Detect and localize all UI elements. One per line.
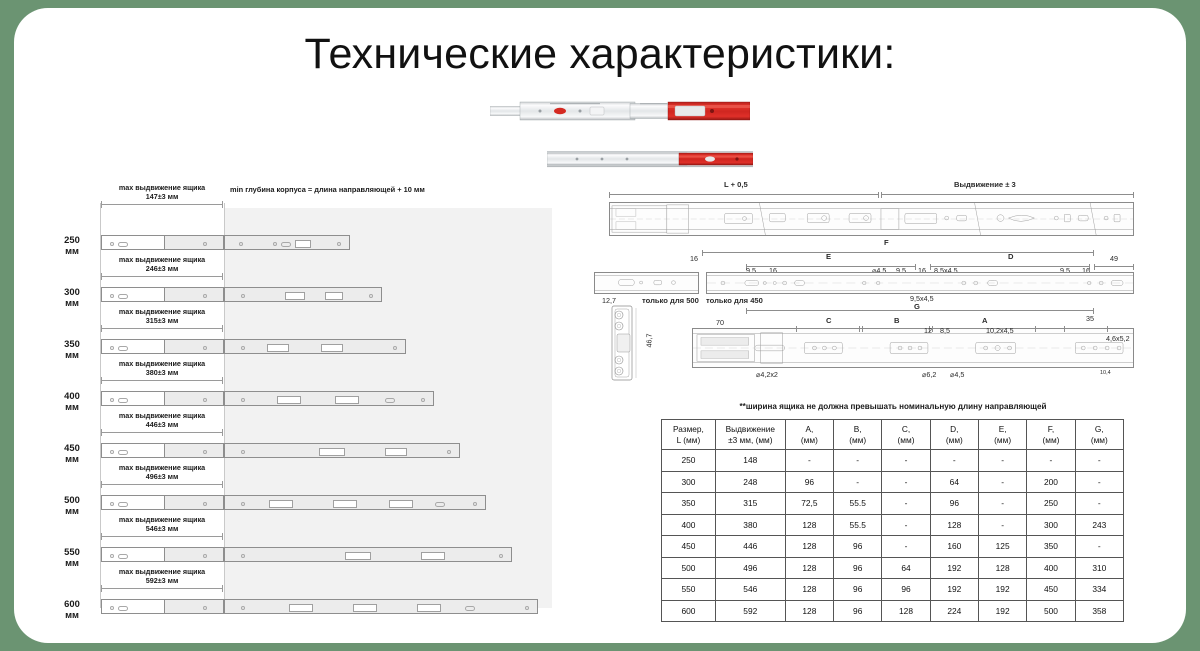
table-cell: - [834,450,882,472]
extension-caption-600: max выдвижение ящика592±3 мм [100,567,224,586]
rail-row-600-inner [164,599,224,614]
table-cell: 350 [662,493,716,515]
table-cell: 148 [715,450,785,472]
table-cell: 125 [978,536,1026,558]
size-label-300: 300мм [52,287,92,309]
table-row: 30024896--64-200- [662,471,1124,493]
table-cell: 224 [930,600,978,622]
dimension-line-350 [101,328,223,329]
table-cell: - [882,536,930,558]
table-cell: 96 [834,579,882,601]
table-cell: - [978,450,1026,472]
label-d46-7: 46,7 [645,334,654,348]
table-row: 35031572,555.5-96-250- [662,493,1124,515]
table-cell: 358 [1075,600,1123,622]
table-row: 45044612896-160125350- [662,536,1124,558]
col-header-b: B,(мм) [834,420,882,450]
table-cell: 600 [662,600,716,622]
label-d8-5: 8,5 [940,326,950,335]
table-cell: 128 [882,600,930,622]
label-C: C [826,316,831,325]
label-E: E [826,252,831,261]
table-cell: - [1075,471,1123,493]
table-cell: 192 [930,579,978,601]
dimension-line-600 [101,588,223,589]
table-cell: 200 [1027,471,1075,493]
size-label-450: 450мм [52,443,92,465]
dimension-line-300 [101,276,223,277]
table-cell: - [978,471,1026,493]
rail-row-450-inner [164,443,224,458]
table-cell: 250 [1027,493,1075,515]
table-cell: 500 [662,557,716,579]
table-note: **ширина ящика не должна превышать номин… [662,402,1124,411]
dim-B [862,328,930,329]
rail-row-600-body [224,599,538,614]
table-cell: 450 [1027,579,1075,601]
table-cell: 128 [785,579,833,601]
table-cell: - [882,450,930,472]
table-cell: - [930,450,978,472]
table-cell: 128 [785,514,833,536]
table-cell: 592 [715,600,785,622]
rail-short-profile [594,272,699,294]
label-A: A [982,316,987,325]
dimension-line-250 [101,204,223,205]
table-cell: 128 [785,600,833,622]
label-d49: 49 [1110,254,1118,263]
extension-caption-550: max выдвижение ящика546±3 мм [100,515,224,534]
table-cell: 446 [715,536,785,558]
table-cell: - [882,493,930,515]
table-cell: 310 [1075,557,1123,579]
drawer-slide-photo-closed [547,148,753,170]
specifications-table: Размер,L (мм) Выдвижение±3 мм, (мм) A,(м… [661,419,1124,622]
table-cell: 128 [785,557,833,579]
dim-extension [881,194,1134,195]
table-cell: - [1075,493,1123,515]
dim-F [702,252,1094,253]
table-cell: 96 [882,579,930,601]
dim-49 [1094,266,1134,267]
rail-row-300-inner [164,287,224,302]
extension-caption-250: max выдвижение ящика147±3 мм [100,183,224,202]
label-D: D [1008,252,1013,261]
table-cell: - [785,450,833,472]
table-cell: 72,5 [785,493,833,515]
slide-page: Технические характеристики: [0,0,1200,651]
label-d4-6x5-2: 4,6x5,2 [1106,334,1130,343]
rail-row-500-inner [164,495,224,510]
extension-caption-300: max выдвижение ящика246±3 мм [100,255,224,274]
drawer-slide-photo-extended [490,96,750,126]
table-cell: 450 [662,536,716,558]
rail-row-300-body [224,287,382,302]
table-cell: 128 [785,536,833,558]
table-cell: 160 [930,536,978,558]
table-cell: - [1075,536,1123,558]
label-d10-2x4-5: 10,2x4,5 [986,326,1014,335]
table-cell: 300 [662,471,716,493]
technical-drawing: L + 0,5 Выдвижение ± 3 [594,180,1139,395]
label-d6-2: ⌀6,2 [922,370,936,379]
label-d4-5-b: ⌀4,5 [950,370,964,379]
extension-diagram: min глубина корпуса = длина направляющей… [52,183,552,608]
size-label-250: 250мм [52,235,92,257]
table-cell: 96 [834,536,882,558]
label-d16-a: 16 [690,254,698,263]
page-title: Технические характеристики: [14,30,1186,79]
size-label-500: 500мм [52,495,92,517]
table-cell: 350 [1027,536,1075,558]
table-cell: 64 [930,471,978,493]
col-header-c: C,(мм) [882,420,930,450]
rail-row-250-inner [164,235,224,250]
table-cell: 64 [882,557,930,579]
dimension-line-450 [101,432,223,433]
dim-G [746,310,1094,311]
table-cell: 128 [930,514,978,536]
table-cell: - [978,493,1026,515]
table-cell: - [882,514,930,536]
table-cell: 192 [978,579,1026,601]
rail-row-350-body [224,339,406,354]
table-cell: 192 [930,557,978,579]
label-L-plus-0-5: L + 0,5 [724,180,748,189]
table-row: 250148------- [662,450,1124,472]
label-d4-2x2: ⌀4,2x2 [756,370,778,379]
rail-detail-view [692,328,1134,368]
table-cell: - [1075,450,1123,472]
label-only-for-450: только для 450 [706,296,763,305]
col-header-g: G,(мм) [1075,420,1123,450]
col-header-f: F,(мм) [1027,420,1075,450]
table-row: 40038012855.5-128-300243 [662,514,1124,536]
table-cell: - [1027,450,1075,472]
table-row: 60059212896128224192500358 [662,600,1124,622]
extension-caption-500: max выдвижение ящика496±3 мм [100,463,224,482]
table-cell: 400 [662,514,716,536]
table-cell: 55.5 [834,514,882,536]
table-cell: 315 [715,493,785,515]
size-label-600: 600мм [52,599,92,621]
table-cell: 96 [930,493,978,515]
table-cell: 334 [1075,579,1123,601]
col-header-a: A,(мм) [785,420,833,450]
table-row: 5004961289664192128400310 [662,557,1124,579]
table-header-row: Размер,L (мм) Выдвижение±3 мм, (мм) A,(м… [662,420,1124,450]
dim-L-plus-0-5 [609,194,879,195]
table-cell: 96 [834,557,882,579]
rail-row-400-inner [164,391,224,406]
rail-assembly-view [609,202,1134,236]
size-label-550: 550мм [52,547,92,569]
rail-row-550-inner [164,547,224,562]
extension-caption-450: max выдвижение ящика446±3 мм [100,411,224,430]
extension-caption-350: max выдвижение ящика315±3 мм [100,307,224,326]
label-extension-tolerance: Выдвижение ± 3 [954,180,1016,189]
table-cell: 128 [978,557,1026,579]
table-cell: 243 [1075,514,1123,536]
table-cell: 300 [1027,514,1075,536]
extension-caption-400: max выдвижение ящика380±3 мм [100,359,224,378]
dimension-line-500 [101,484,223,485]
table-cell: 500 [1027,600,1075,622]
table-cell: - [834,471,882,493]
label-only-for-500: только для 500 [642,296,699,305]
table-cell: 96 [834,600,882,622]
rail-row-500-body [224,495,486,510]
table-cell: 250 [662,450,716,472]
col-header-size: Размер,L (мм) [662,420,716,450]
dim-35 [1064,328,1108,329]
table-row: 5505461289696192192450334 [662,579,1124,601]
label-B: B [894,316,899,325]
table-cell: 550 [662,579,716,601]
rail-row-350-inner [164,339,224,354]
col-header-d: D,(мм) [930,420,978,450]
size-label-350: 350мм [52,339,92,361]
dimension-line-400 [101,380,223,381]
size-label-400: 400мм [52,391,92,413]
label-d35: 35 [1086,314,1094,323]
table-cell: - [978,514,1026,536]
label-d12: 12 [924,326,932,335]
col-header-e: E,(мм) [978,420,1026,450]
cross-section-profile [606,304,642,382]
table-cell: 96 [785,471,833,493]
table-cell: 546 [715,579,785,601]
table-cell: - [882,471,930,493]
table-cell: 192 [978,600,1026,622]
column-header-right: min глубина корпуса = длина направляющей… [230,185,425,195]
rail-long-profile [706,272,1134,294]
rail-row-400-body [224,391,434,406]
table-cell: 55.5 [834,493,882,515]
label-F: F [884,238,889,247]
rail-row-550-body [224,547,512,562]
dim-C [796,328,860,329]
rail-row-450-body [224,443,460,458]
table-cell: 380 [715,514,785,536]
dimension-line-550 [101,536,223,537]
table-cell: 248 [715,471,785,493]
label-d10-4: 10,4 [1100,370,1111,376]
label-d70: 70 [716,318,724,327]
table-cell: 400 [1027,557,1075,579]
slide-sheet: Технические характеристики: [14,8,1186,643]
rail-row-250-body [224,235,350,250]
label-d12-7: 12,7 [602,296,616,305]
col-header-extension: Выдвижение±3 мм, (мм) [715,420,785,450]
table-cell: 496 [715,557,785,579]
